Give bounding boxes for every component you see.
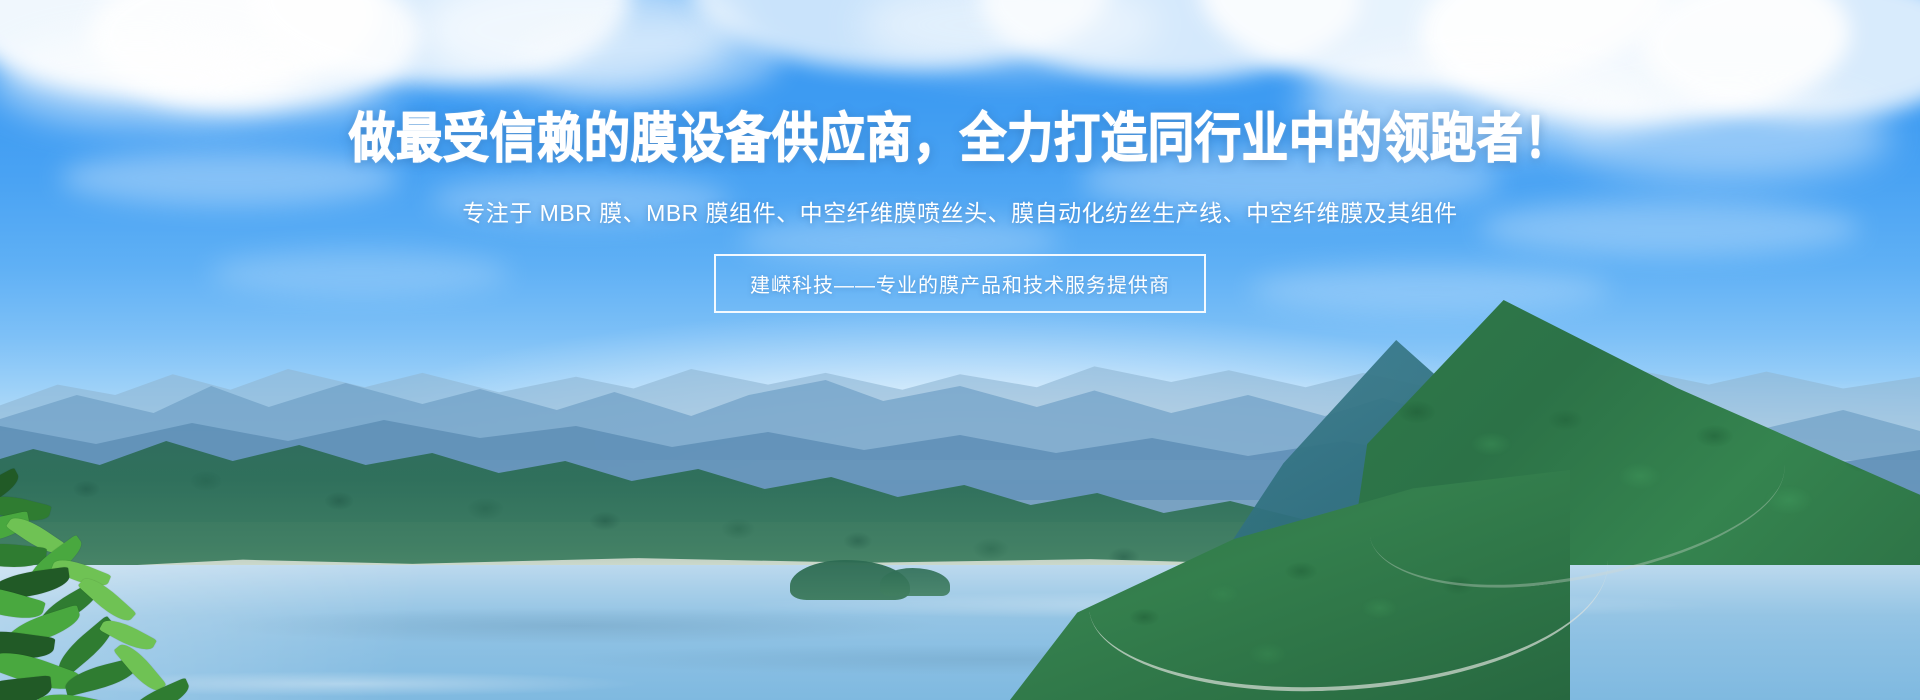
cloud-icon (210, 250, 510, 296)
banner-tagline-box[interactable]: 建嵘科技——专业的膜产品和技术服务提供商 (714, 254, 1206, 313)
cloud-icon (1480, 200, 1860, 256)
foreground-foliage (0, 440, 260, 700)
cloud-icon (60, 150, 400, 206)
cloud-icon (1080, 150, 1500, 212)
lake-reflections (0, 565, 1920, 700)
cloud-icon (430, 175, 730, 223)
hero-banner: 做最受信赖的膜设备供应商，全力打造同行业中的领跑者！ 专注于 MBR 膜、MBR… (0, 0, 1920, 700)
cloud-icon (1560, 90, 1890, 180)
cloud-icon (1250, 265, 1610, 313)
